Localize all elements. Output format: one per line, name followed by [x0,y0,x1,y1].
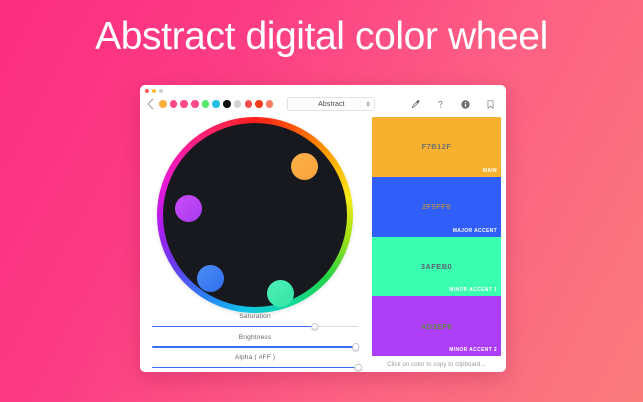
wheel-dot-mint[interactable] [267,280,294,307]
alpha-slider-fill [152,367,358,369]
palette-dot-row [159,100,273,108]
document-select-label: Abstract [318,101,344,108]
eyedropper-icon[interactable] [410,99,421,110]
saturation-slider-thumb[interactable] [311,323,319,331]
swatch-main-hex: F7B12F [422,142,452,151]
dot-gray[interactable] [234,100,242,108]
brightness-slider-track[interactable] [152,343,358,351]
alpha-slider-label: Alpha ( #FF ) [152,354,358,361]
swatch-minor-accent-2-hex: AD3EF8 [421,322,452,331]
alpha-slider-thumb[interactable] [354,364,362,372]
wheel-dot-blue[interactable] [197,265,224,292]
app-window: Abstract [140,85,506,372]
slider-group: SaturationBrightnessAlpha ( #FF ) [140,313,370,372]
clipboard-hint: Click on color to copy to clipboard... [372,362,501,368]
alpha-slider-track[interactable] [152,364,358,372]
window-zoom-button[interactable] [159,89,163,93]
document-select[interactable]: Abstract [287,97,375,111]
swatch-minor-accent-1[interactable]: 3AFEB0MINOR ACCENT 1 [372,237,501,297]
back-chevron-icon[interactable] [145,97,156,111]
window-minimize-button[interactable] [152,89,156,93]
window-body: SaturationBrightnessAlpha ( #FF ) F7B12F… [140,115,506,372]
swatch-minor-accent-2-role: MINOR ACCENT 2 [449,347,497,353]
color-wheel-area [140,117,370,313]
page-title: Abstract digital color wheel [0,12,643,62]
saturation-slider[interactable]: Saturation [152,313,358,331]
window-close-button[interactable] [145,89,149,93]
brightness-slider-label: Brightness [152,334,358,341]
dot-pink-3[interactable] [191,100,199,108]
help-icon[interactable] [435,99,446,110]
color-wheel[interactable] [157,117,353,313]
swatch-pane: F7B12FMAIN2F5FF8MAJOR ACCENT3AFEB0MINOR … [370,115,506,372]
dot-pink-2[interactable] [180,100,188,108]
wheel-dot-orange[interactable] [291,153,318,180]
brightness-slider[interactable]: Brightness [152,334,358,352]
screenshot-root: Abstract digital color wheel Abstract [0,0,643,402]
bookmark-icon[interactable] [485,99,496,110]
dot-rose[interactable] [245,100,253,108]
swatch-main[interactable]: F7B12FMAIN [372,117,501,177]
window-traffic-lights [145,89,163,93]
brightness-slider-thumb[interactable] [352,343,360,351]
dot-amber[interactable] [159,100,167,108]
swatch-minor-accent-1-role: MINOR ACCENT 1 [449,287,497,293]
dot-salmon[interactable] [266,100,274,108]
chevron-updown-icon[interactable] [366,102,370,107]
saturation-slider-track[interactable] [152,323,358,331]
saturation-slider-label: Saturation [152,313,358,320]
swatch-major-accent[interactable]: 2F5FF8MAJOR ACCENT [372,177,501,237]
wheel-pane: SaturationBrightnessAlpha ( #FF ) [140,115,370,372]
dot-cyan[interactable] [212,100,220,108]
dot-green[interactable] [202,100,210,108]
swatch-minor-accent-2[interactable]: AD3EF8MINOR ACCENT 2 [372,296,501,356]
swatch-minor-accent-1-hex: 3AFEB0 [421,262,452,271]
saturation-slider-fill [152,326,315,328]
dot-black[interactable] [223,100,231,108]
dot-red[interactable] [255,100,263,108]
dot-pink-1[interactable] [170,100,178,108]
swatch-major-accent-role: MAJOR ACCENT [453,228,497,234]
alpha-slider[interactable]: Alpha ( #FF ) [152,354,358,372]
color-wheel-inner[interactable] [163,123,347,307]
wheel-dot-purple[interactable] [175,195,202,222]
swatch-main-role: MAIN [483,168,497,174]
brightness-slider-fill [152,346,356,348]
toolbar: Abstract [140,93,506,115]
swatch-stack: F7B12FMAIN2F5FF8MAJOR ACCENT3AFEB0MINOR … [372,117,501,356]
toolbar-actions [410,99,499,110]
swatch-major-accent-hex: 2F5FF8 [422,202,451,211]
info-icon[interactable] [460,99,471,110]
